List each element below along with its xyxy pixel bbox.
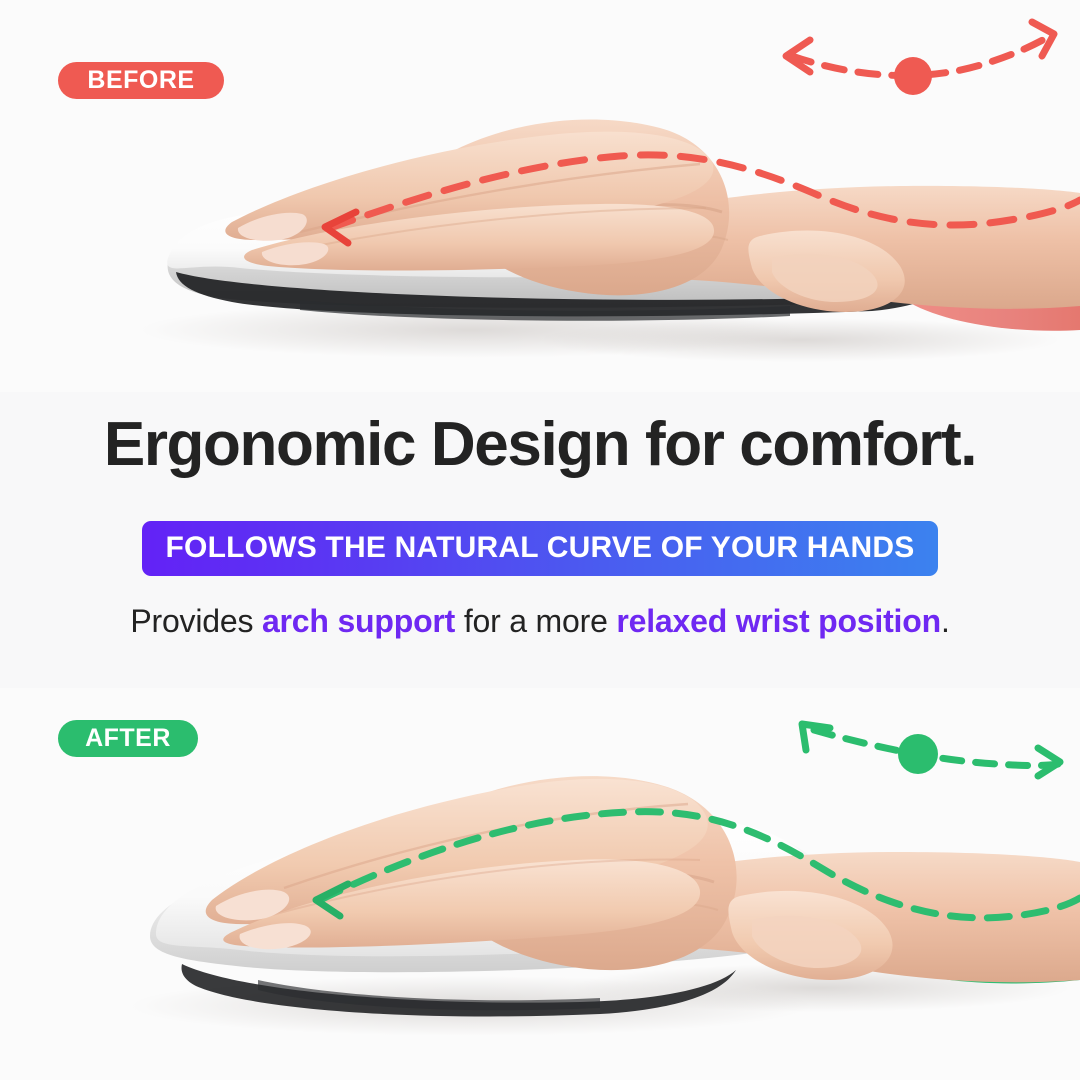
before-photo-panel: [0, 0, 1080, 392]
subline-highlight-arch-support: arch support: [262, 603, 455, 639]
page-title: Ergonomic Design for comfort.: [0, 412, 1080, 477]
badge-after: AFTER: [58, 720, 198, 757]
before-range-arrow: [770, 18, 1070, 98]
feature-banner-wrap: FOLLOWS THE NATURAL CURVE OF YOUR HANDS: [0, 521, 1080, 576]
arrow-center-dot: [894, 57, 932, 95]
badge-before: BEFORE: [58, 62, 224, 99]
feature-banner: FOLLOWS THE NATURAL CURVE OF YOUR HANDS: [142, 521, 939, 576]
infographic-canvas: Ergonomic Design for comfort. FOLLOWS TH…: [0, 0, 1080, 1080]
support-subline: Provides arch support for a more relaxed…: [0, 603, 1080, 640]
subline-part2: for a more: [455, 603, 616, 639]
arrow-head-left: [802, 724, 830, 750]
after-range-arrow: [788, 702, 1068, 788]
subline-part1: Provides: [130, 603, 262, 639]
arrow-center-dot: [898, 734, 938, 774]
subline-highlight-relaxed-wrist: relaxed wrist position: [616, 603, 941, 639]
subline-part3: .: [941, 603, 950, 639]
